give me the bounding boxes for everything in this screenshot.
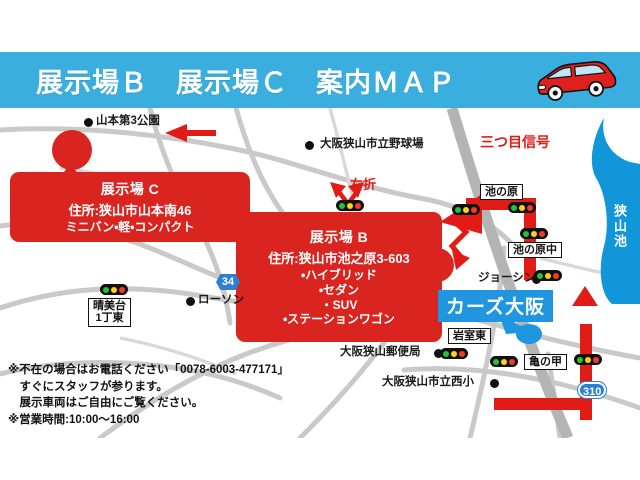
traffic-signal-icon <box>100 284 128 295</box>
exhibition-c-pin <box>52 130 92 170</box>
header-banner: 展示場Ｂ 展示場Ｃ 案内ＭＡＰ <box>0 52 640 108</box>
red-minivan-icon <box>528 58 620 102</box>
exhibition-hall-b-item-2: ・SUV <box>321 298 358 313</box>
signal-red <box>355 203 361 209</box>
traffic-signal-icon <box>452 204 480 215</box>
store-notice: ※不在の場合はお電話ください「0078-6003-477171」 すぐにスタッフ… <box>8 362 308 429</box>
page-title: 展示場Ｂ 展示場Ｃ 案内ＭＡＰ <box>36 61 456 100</box>
traffic-signal-icon <box>574 354 602 365</box>
signal-green <box>103 287 109 293</box>
exhibition-hall-b-item-0: ・ハイブリッド <box>301 268 377 283</box>
nishi-elementary-label: 大阪狭山市立西小 <box>382 376 474 388</box>
exhibition-hall-c-address: 住所:狭山市山本南46 <box>69 200 192 219</box>
signal-yellow <box>451 351 457 357</box>
signal-yellow <box>531 231 537 237</box>
traffic-signal-icon <box>336 200 364 211</box>
signal-red <box>119 287 125 293</box>
signal-green <box>511 205 517 211</box>
yamamoto-3rd-park-label: 山本第3公園 <box>96 115 160 127</box>
signal-green <box>339 203 345 209</box>
signal-red <box>539 231 545 237</box>
signal-yellow <box>585 357 591 363</box>
traffic-signal-icon <box>508 202 536 213</box>
signal-yellow <box>545 273 551 279</box>
exhibition-hall-c-callout[interactable]: 展示場 C 住所:狭山市山本南46 ミニバン・軽・コンパクト <box>10 172 250 242</box>
cars-osaka-marker <box>516 324 542 344</box>
traffic-signal-icon <box>520 228 548 239</box>
signal-green <box>493 359 499 365</box>
signal-green <box>537 273 543 279</box>
signal-red <box>471 207 477 213</box>
iwamuro-higashi-label: 岩室東 <box>448 328 491 344</box>
lawson-dot <box>186 297 195 306</box>
baseball-stadium-label: 大阪狭山市立野球場 <box>320 138 424 150</box>
signal-green <box>523 231 529 237</box>
signal-green <box>443 351 449 357</box>
iwamuro-higashi-line1: 岩室東 <box>453 330 486 342</box>
third-signal-label: 三つ目信号 <box>480 132 550 152</box>
route-34-shield: 34 <box>216 274 240 290</box>
post-office-label: 大阪狭山郵便局 <box>340 346 421 358</box>
signal-yellow <box>501 359 507 365</box>
signal-yellow <box>347 203 353 209</box>
route-310-shield: 310 <box>578 382 606 398</box>
ikenohara-label: 池の原 <box>480 184 523 200</box>
yamamoto-3rd-park-dot <box>84 118 93 127</box>
traffic-signal-icon <box>490 356 518 367</box>
signal-yellow <box>111 287 117 293</box>
baseball-stadium-dot <box>305 141 314 150</box>
ikenohara-naka-line1: 池の原中 <box>513 244 557 256</box>
traffic-signal-icon <box>534 270 562 281</box>
harumidai-line2: 1丁東 <box>93 312 126 324</box>
exhibition-hall-b-callout[interactable]: 展示場 B 住所:狭山市池之原3-603 ・ハイブリッド ・セダン ・SUV ・… <box>236 212 442 342</box>
lawson-label: ローソン <box>198 294 244 306</box>
signal-green <box>577 357 583 363</box>
exhibition-hall-b-address: 住所:狭山市池之原3-603 <box>268 248 410 267</box>
ikenohara-naka-label: 池の原中 <box>508 242 562 258</box>
cars-osaka-label[interactable]: カーズ大阪 <box>438 290 553 322</box>
joshin-label: ジョーシン <box>478 272 535 284</box>
ikenohara-line1: 池の原 <box>485 186 518 198</box>
harumidai-line1: 晴美台 <box>93 300 126 312</box>
signal-yellow <box>463 207 469 213</box>
map-flyer: 展示場Ｂ 展示場Ｃ 案内ＭＡＰ <box>0 0 640 480</box>
exhibition-hall-c-title: 展示場 C <box>101 179 160 199</box>
nishi-elementary-dot <box>490 379 499 388</box>
exhibition-hall-b-item-1: ・セダン <box>319 283 359 298</box>
signal-yellow <box>519 205 525 211</box>
kamenoko-line1: 亀の甲 <box>529 356 562 368</box>
traffic-signal-icon <box>440 348 468 359</box>
signal-green <box>455 207 461 213</box>
right-turn-label: 右折 <box>350 174 376 193</box>
signal-red <box>509 359 515 365</box>
signal-red <box>593 357 599 363</box>
kamenoko-label: 亀の甲 <box>524 354 567 370</box>
exhibition-hall-c-item-0: ミニバン・軽・コンパクト <box>66 220 195 235</box>
exhibition-hall-b-item-3: ・ステーションワゴン <box>283 312 395 327</box>
signal-red <box>553 273 559 279</box>
signal-red <box>527 205 533 211</box>
signal-red <box>459 351 465 357</box>
harumidai-1chome-higashi-label: 晴美台 1丁東 <box>88 298 131 327</box>
exhibition-hall-b-title: 展示場 B <box>310 227 369 247</box>
